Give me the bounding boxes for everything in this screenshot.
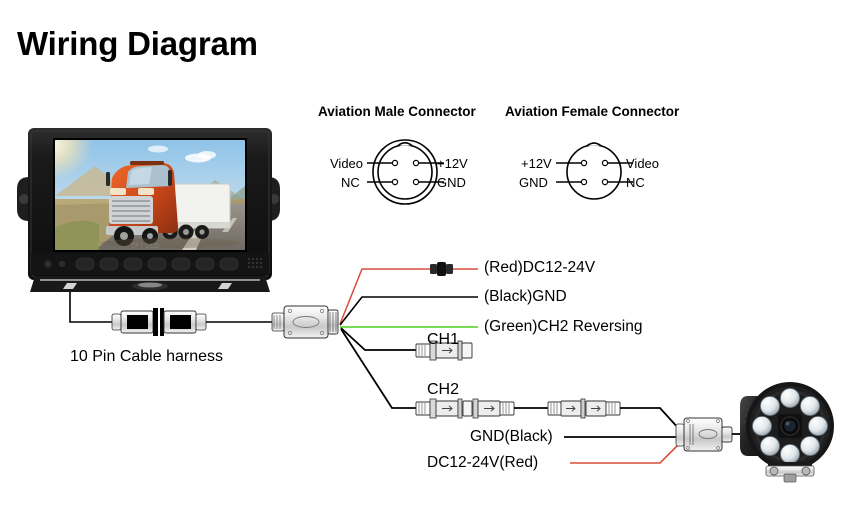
ch2-wire [341, 329, 416, 408]
female-pin-nc: NC [626, 175, 645, 190]
power-out-label: DC12-24V(Red) [427, 454, 538, 472]
cable-splitter-box [272, 306, 338, 338]
monitor-tail-wire [70, 292, 112, 322]
aviation-female-connector-symbol [556, 143, 633, 199]
female-pin-video: Video [626, 156, 659, 171]
female-connector-heading: Aviation Female Connector [505, 104, 679, 119]
male-pin-nc: NC [341, 175, 360, 190]
female-pin-12v: +12V [521, 156, 552, 171]
ground-in-wire [340, 297, 478, 325]
av-in-button[interactable] [100, 258, 118, 270]
power-button[interactable] [76, 258, 94, 270]
wiring-diagram-canvas: Wiring Diagram Aviation Male Connector A… [0, 0, 845, 507]
menu-button[interactable] [148, 258, 166, 270]
male-pin-video: Video [330, 156, 363, 171]
male-pin-12v: +12V [437, 156, 468, 171]
ground-in-label: (Black)GND [484, 288, 567, 306]
page-title: Wiring Diagram [17, 25, 258, 63]
inline-fuse-holder [430, 262, 453, 276]
mirror-button[interactable] [196, 258, 214, 270]
harness-label: 10 Pin Cable harness [70, 348, 223, 366]
mode-button[interactable] [220, 258, 238, 270]
ch2-label: CH2 [427, 381, 459, 399]
female-pin-gnd: GND [519, 175, 548, 190]
reversing-label: (Green)CH2 Reversing [484, 318, 643, 336]
power-in-label: (Red)DC12-24V [484, 259, 595, 277]
brightness-button[interactable] [172, 258, 190, 270]
led-work-light-camera [740, 382, 834, 482]
power-out-wire [570, 443, 680, 463]
male-connector-heading: Aviation Male Connector [318, 104, 476, 119]
back-button[interactable] [124, 258, 142, 270]
aviation-male-connector-symbol [367, 140, 444, 204]
male-pin-gnd: GND [437, 175, 466, 190]
ground-out-label: GND(Black) [470, 428, 553, 446]
diagram-vector-layer [0, 0, 845, 507]
tft-lcd-badge: TFT LCD [131, 244, 160, 250]
ch1-label: CH1 [427, 331, 459, 349]
ten-pin-cable-harness [112, 308, 272, 336]
ch2-connector-chain [416, 399, 680, 430]
